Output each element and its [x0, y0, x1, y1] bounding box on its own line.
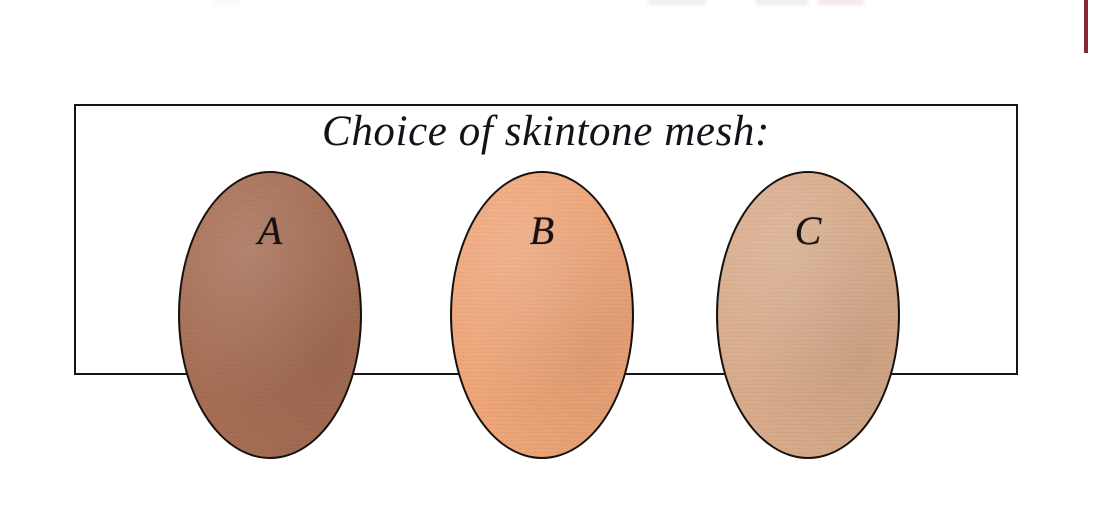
- skintone-swatch-c[interactable]: C: [716, 171, 900, 459]
- skintone-swatch-b-label: B: [452, 209, 634, 253]
- skintone-selection-figure: Choice of skintone mesh: A B C: [0, 0, 1093, 531]
- skintone-swatch-a-label: A: [180, 209, 362, 253]
- skintone-swatch-b[interactable]: B: [450, 171, 634, 459]
- skintone-swatch-c-label: C: [718, 209, 900, 253]
- skintone-swatch-a[interactable]: A: [178, 171, 362, 459]
- skintone-swatch-group: A B C: [0, 0, 1093, 531]
